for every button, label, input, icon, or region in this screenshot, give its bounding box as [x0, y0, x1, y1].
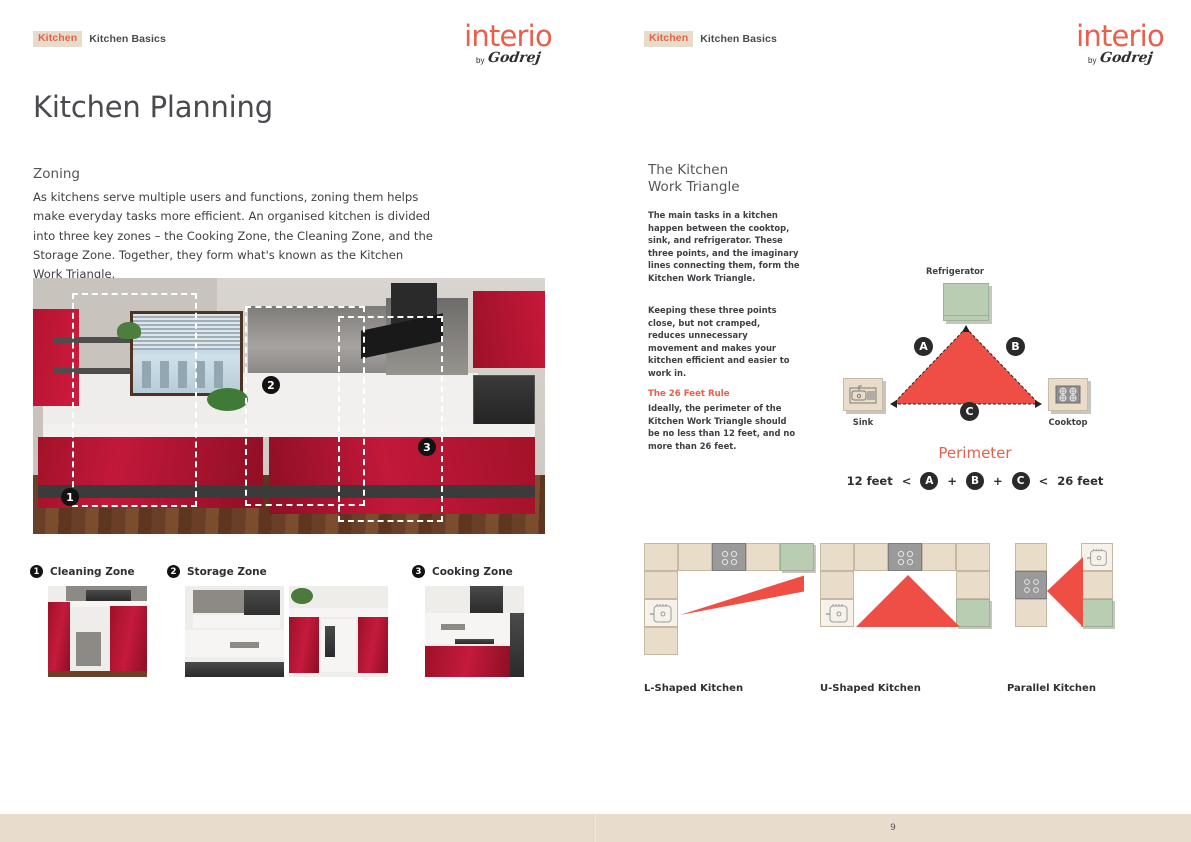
cooktop-label: Cooktop [1038, 417, 1098, 427]
breadcrumb-badge-right: Kitchen [644, 31, 693, 47]
logo-wordmark: interio [462, 22, 554, 51]
thumb2-shelf [193, 615, 280, 628]
thumb2-lift-up-door [193, 590, 250, 614]
caption-label-2: Storage Zone [187, 566, 267, 578]
perimeter-plus-1: + [947, 474, 957, 488]
work-triangle-diagram: Refrigerator A B C [830, 262, 1120, 447]
thumb3-plant [291, 588, 313, 604]
page-spread: Kitchen Kitchen Basics interio by Godrej… [0, 0, 1191, 842]
work-triangle-para1: The main tasks in a kitchen happen betwe… [648, 209, 800, 285]
perimeter-plus-2: + [993, 474, 1003, 488]
brand-logo-left: interio by Godrej [462, 22, 554, 65]
thumb4-hob [455, 639, 495, 644]
thumb4-tall-unit [510, 613, 524, 677]
thumb3-door-right [358, 617, 388, 673]
hero-kitchen-photo: 1 2 3 [33, 278, 545, 534]
perimeter-min: 12 feet [847, 474, 893, 488]
perimeter-title: Perimeter [830, 444, 1120, 462]
l-triangle [644, 543, 804, 673]
photo-upper-cabinet-right [473, 291, 545, 368]
sink-label: Sink [838, 417, 888, 427]
left-page: Kitchen Kitchen Basics interio by Godrej… [0, 0, 595, 842]
logo-by-text: by [476, 56, 484, 65]
thumb2-base [185, 662, 284, 677]
perimeter-mark-a: A [920, 472, 938, 490]
caption-badge-3: 3 [412, 565, 425, 578]
sink-icon [843, 378, 883, 411]
plan-u-shaped: U-Shaped Kitchen [820, 543, 1000, 673]
zoning-body-text: As kitchens serve multiple users and fun… [33, 188, 433, 284]
thumb3-bottles [325, 626, 335, 657]
thumb1-floor [48, 671, 147, 677]
rule-body: Ideally, the perimeter of the Kitchen Wo… [648, 402, 800, 452]
cooktop-glyph [1054, 384, 1082, 405]
zone-outline-cleaning [72, 293, 197, 507]
thumb1-sink [86, 590, 132, 601]
hero-marker-2: 2 [262, 376, 280, 394]
plan-label-u: U-Shaped Kitchen [820, 683, 1000, 694]
plan-l-shaped: L-Shaped Kitchen [644, 543, 804, 673]
thumb2-rail [230, 642, 260, 647]
cooktop-icon [1048, 378, 1088, 411]
rule-heading: The 26 Feet Rule [648, 389, 730, 399]
work-triangle-heading-line1: The Kitchen [648, 162, 828, 179]
triangle-mark-b: B [1006, 337, 1025, 356]
perimeter-lt-1: < [902, 474, 912, 488]
thumb1-bin [76, 632, 102, 667]
perimeter-mark-c: C [1012, 472, 1030, 490]
breadcrumb-subtitle: Kitchen Basics [89, 33, 166, 45]
thumb4-hood [470, 586, 504, 613]
work-triangle-para2: Keeping these three points close, but no… [648, 304, 800, 380]
logo-godrej-text: Godrej [487, 52, 541, 65]
thumbnail-storage-zone-a [185, 586, 284, 677]
hero-marker-1: 1 [61, 488, 79, 506]
sink-glyph [849, 384, 877, 405]
work-triangle-heading-line2: Work Triangle [648, 179, 828, 196]
thumb4-base-cabinets [425, 646, 510, 677]
hero-marker-3: 3 [418, 438, 436, 456]
logo-godrej-text-right: Godrej [1099, 52, 1153, 65]
thumbnail-cooking-zone [425, 586, 524, 677]
u-triangle [820, 543, 1000, 673]
perimeter-mark-b: B [966, 472, 984, 490]
section-heading-zoning: Zoning [33, 166, 80, 182]
photo-herb-plant [207, 388, 248, 411]
perimeter-max: 26 feet [1057, 474, 1103, 488]
triangle-mark-a: A [914, 337, 933, 356]
thumb3-door-left [289, 617, 319, 673]
caption-badge-2: 2 [167, 565, 180, 578]
caption-label-1: Cleaning Zone [50, 566, 135, 578]
thumb1-door-left [48, 602, 70, 670]
page-number-right: 9 [595, 814, 1191, 842]
caption-storage-zone: 2 Storage Zone [167, 565, 267, 578]
caption-cleaning-zone: 1 Cleaning Zone [30, 565, 135, 578]
thumb3-counter [289, 608, 388, 617]
plan-parallel: Parallel Kitchen [1015, 543, 1120, 673]
triangle-mark-c: C [960, 402, 979, 421]
thumbnail-storage-zone-b [289, 586, 388, 677]
breadcrumb-subtitle-right: Kitchen Basics [700, 33, 777, 45]
caption-label-3: Cooking Zone [432, 566, 513, 578]
logo-by-text-right: by [1088, 56, 1096, 65]
perimeter-formula: 12 feet < A + B + C < 26 feet [830, 472, 1120, 490]
logo-byline-right: by Godrej [1074, 52, 1166, 65]
caption-badge-1: 1 [30, 565, 43, 578]
breadcrumb-right: Kitchen Kitchen Basics [644, 31, 777, 47]
logo-wordmark-right: interio [1074, 22, 1166, 51]
caption-cooking-zone: 3 Cooking Zone [412, 565, 513, 578]
thumb4-spice-rail [441, 624, 465, 629]
page-title: Kitchen Planning [33, 90, 273, 124]
brand-logo-right: interio by Godrej [1074, 22, 1166, 65]
thumbnail-cleaning-zone [48, 586, 147, 677]
plan-label-parallel: Parallel Kitchen [1007, 683, 1127, 694]
perimeter-lt-2: < [1039, 474, 1049, 488]
thumb1-door-right [110, 606, 147, 672]
zone-outline-cooking [338, 316, 443, 522]
work-triangle-heading: The Kitchen Work Triangle [648, 162, 828, 196]
p-triangle [1015, 543, 1120, 673]
plan-label-l: L-Shaped Kitchen [644, 683, 804, 694]
breadcrumb-badge: Kitchen [33, 31, 82, 47]
logo-byline: by Godrej [462, 52, 554, 65]
breadcrumb-left: Kitchen Kitchen Basics [33, 31, 166, 47]
